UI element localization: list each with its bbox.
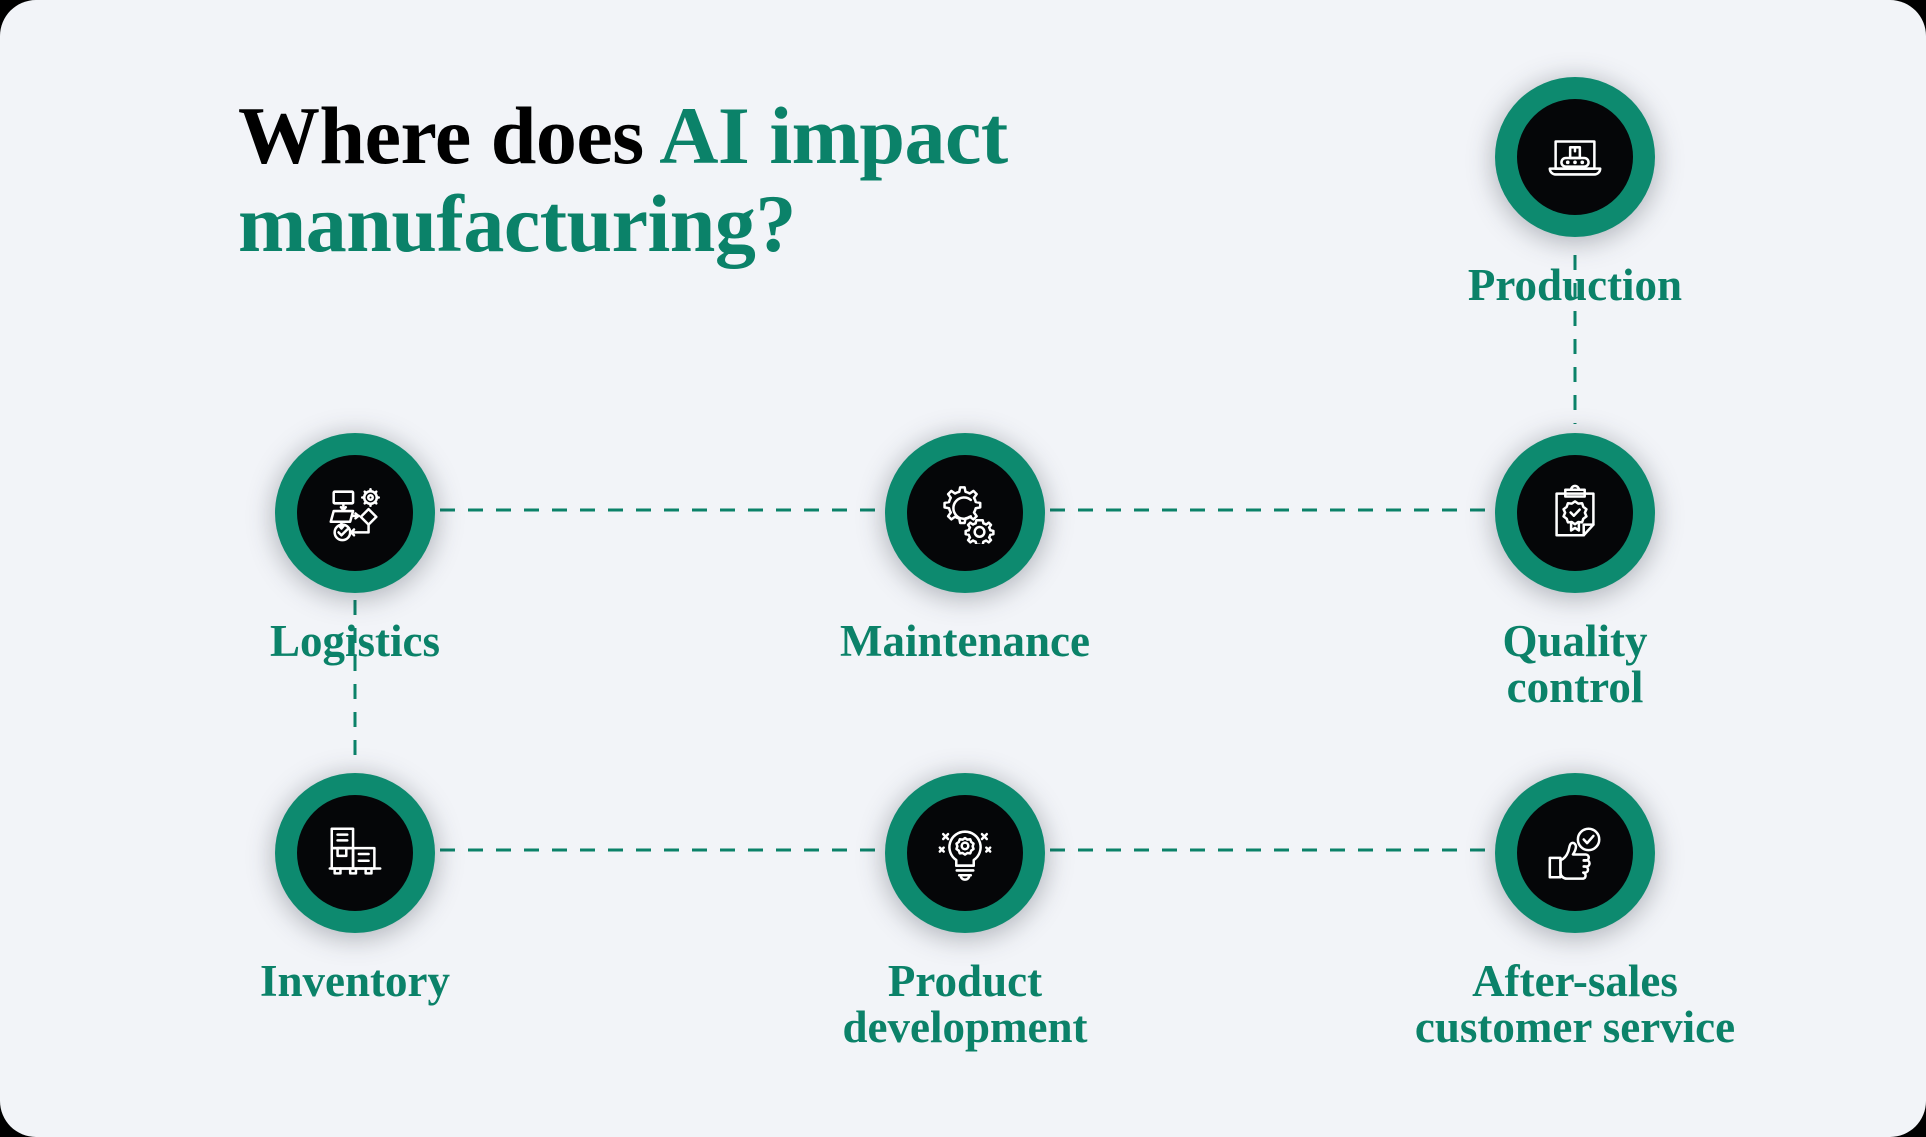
badge-core [1517, 99, 1633, 215]
infographic-card: Where does AI impact manufacturing? [0, 0, 1926, 1137]
badge-logistics[interactable] [267, 425, 443, 601]
node-label-logistics: Logistics [185, 619, 525, 665]
node-label-after-sales: After-sales customer service [1405, 959, 1745, 1051]
badge-production[interactable] [1487, 69, 1663, 245]
badge-after-sales[interactable] [1487, 765, 1663, 941]
conveyor-belt-monitor-icon [1544, 126, 1606, 188]
badge-inventory[interactable] [267, 765, 443, 941]
flowchart-process-icon [324, 482, 386, 544]
node-after-sales[interactable]: After-sales customer service [1405, 765, 1745, 1051]
node-logistics[interactable]: Logistics [185, 425, 525, 665]
title-line2-accent: manufacturing? [238, 178, 796, 269]
badge-core [297, 795, 413, 911]
badge-quality-control[interactable] [1487, 425, 1663, 601]
node-label-maintenance: Maintenance [795, 619, 1135, 665]
stacked-boxes-pallet-icon [324, 822, 386, 884]
lightbulb-gear-icon [934, 822, 996, 884]
clipboard-quality-seal-icon [1544, 482, 1606, 544]
node-quality-control[interactable]: Quality control [1405, 425, 1745, 711]
node-production[interactable]: Production [1405, 69, 1745, 309]
badge-maintenance[interactable] [877, 425, 1053, 601]
badge-core [907, 455, 1023, 571]
badge-core [1517, 455, 1633, 571]
node-label-quality-control: Quality control [1405, 619, 1745, 711]
thumbs-up-check-icon [1544, 822, 1606, 884]
node-maintenance[interactable]: Maintenance [795, 425, 1135, 665]
badge-core [1517, 795, 1633, 911]
node-label-production: Production [1405, 263, 1745, 309]
title-line1-accent: AI impact [659, 90, 1008, 181]
node-label-product-development: Product development [795, 959, 1135, 1051]
node-product-development[interactable]: Product development [795, 765, 1135, 1051]
gears-icon [934, 482, 996, 544]
node-inventory[interactable]: Inventory [185, 765, 525, 1005]
page-title: Where does AI impact manufacturing? [238, 92, 1218, 267]
badge-core [907, 795, 1023, 911]
badge-product-development[interactable] [877, 765, 1053, 941]
badge-core [297, 455, 413, 571]
title-line1-black: Where does [238, 90, 659, 181]
node-label-inventory: Inventory [185, 959, 525, 1005]
